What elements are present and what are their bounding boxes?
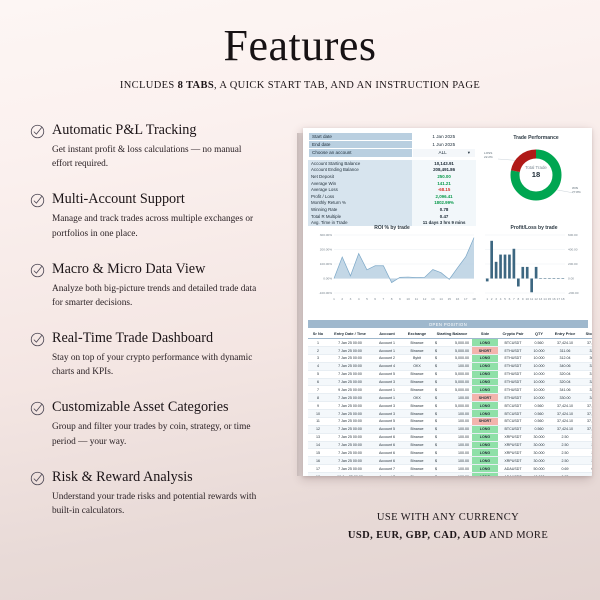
side-badge: LONG [472, 425, 498, 433]
metric-row: Monthly Return %1802.99% [308, 200, 476, 207]
feature-title: Multi-Account Support [52, 191, 185, 207]
svg-text:18: 18 [561, 297, 565, 301]
metric-row: Average Loss-68.15 [308, 186, 476, 193]
table-cell: 7 Jan 25 00:00 [328, 394, 372, 402]
table-cell: Account 3 [372, 410, 402, 418]
table-cell: Binance [402, 410, 432, 418]
table-cell: 338.00 [580, 386, 592, 394]
subtitle-post: , A QUICK START TAB, AND AN INSTRUCTION … [214, 80, 480, 91]
svg-text:14: 14 [543, 297, 547, 301]
table-cell: 17 [308, 465, 328, 473]
svg-text:200.00: 200.00 [568, 262, 578, 266]
table-cell: Account 5 [372, 425, 402, 433]
table-cell: Binance [402, 339, 432, 347]
table-cell: 0.65 [580, 473, 592, 476]
table-cell: 7 Jan 25 00:00 [328, 410, 372, 418]
svg-text:12: 12 [423, 297, 427, 301]
svg-text:9: 9 [399, 297, 401, 301]
table-cell: Binance [402, 425, 432, 433]
feature-description: Get instant profit & loss calculations —… [52, 143, 257, 172]
table-cell: 7 Jan 25 00:00 [328, 433, 372, 441]
table-cell: 18 [308, 473, 328, 476]
donut-win-label: WIN77.8% [572, 187, 581, 195]
table-cell: Account 1 [372, 386, 402, 394]
side-badge: LONG [472, 449, 498, 457]
svg-text:1: 1 [486, 297, 488, 301]
svg-text:6: 6 [374, 297, 376, 301]
check-circle-icon [30, 263, 45, 278]
table-cell: Account 6 [372, 441, 402, 449]
table-row[interactable]: 47 Jan 25 00:00Account 4OKX$100.00LONGET… [308, 362, 592, 370]
table-column-header: Sr No [308, 329, 328, 339]
table-cell: 2 [308, 347, 328, 355]
table-cell: 330.00 [550, 394, 580, 402]
table-cell: OKX [402, 394, 432, 402]
table-cell: 8 [308, 394, 328, 402]
check-circle-icon [30, 401, 45, 416]
filter-label: Choose an account [309, 149, 413, 157]
feature-item: Automatic P&L Tracking Get instant profi… [30, 122, 280, 172]
filter-row: End date 1 Jun 2025 [309, 141, 476, 149]
metric-row: Average Win141.21 [308, 180, 476, 187]
table-cell: 2.15 [580, 433, 592, 441]
svg-text:300.00%: 300.00% [320, 233, 332, 237]
metric-row: Account Starting Balance10,143.91 [308, 160, 476, 167]
table-cell: 7 Jan 25 00:00 [328, 378, 372, 386]
table-column-header: Exchange [402, 329, 432, 339]
feature-description: Analyze both big-picture trends and deta… [52, 282, 257, 311]
table-cell: 312.04 [550, 354, 580, 362]
table-cell: Binance [402, 378, 432, 386]
table-column-header: Side [472, 329, 498, 339]
currency-codes: USD, EUR, GBP, CAD, AUD [348, 530, 487, 541]
table-cell: Account 3 [372, 402, 402, 410]
side-badge: LONG [472, 354, 498, 362]
table-column-header: Entry Price [550, 329, 580, 339]
side-badge: LONG [472, 457, 498, 465]
table-cell: 0.60 [580, 465, 592, 473]
table-cell: 13 [308, 433, 328, 441]
table-cell: 2.15 [580, 441, 592, 449]
side-badge: SHORT [472, 417, 498, 425]
table-cell: 5 [308, 370, 328, 378]
table-cell: 311.06 [550, 347, 580, 355]
table-cell: 37,424.10 [550, 402, 580, 410]
table-cell: 0.560 [528, 402, 550, 410]
table-row[interactable]: 147 Jan 25 00:00Account 6Binance$100.00L… [308, 441, 592, 449]
side-badge: SHORT [472, 347, 498, 355]
table-cell: Binance [402, 457, 432, 465]
table-cell: XRPUSDT [498, 449, 528, 457]
filter-label: End date [309, 141, 413, 149]
table-cell: 330.00 [580, 362, 592, 370]
svg-text:10: 10 [525, 297, 529, 301]
table-cell: Binance [402, 449, 432, 457]
table-column-header: Crypto Pair [498, 329, 528, 339]
feature-title: Customizable Asset Categories [52, 399, 229, 415]
table-cell: 9 Jan 25 00:00 [328, 386, 372, 394]
table-column-header: Account [372, 329, 402, 339]
table-cell: $100.00 [432, 465, 472, 473]
svg-text:14: 14 [439, 297, 443, 301]
table-column-header: Starting Balance [432, 329, 472, 339]
table-cell: 3 [308, 354, 328, 362]
table-cell: 2.50 [550, 457, 580, 465]
table-cell: 10.000 [528, 370, 550, 378]
table-cell: 2.15 [580, 457, 592, 465]
currency-list: USD, EUR, GBP, CAD, AUD AND MORE [303, 530, 593, 541]
metric-row: Total R Multiple0.47 [308, 213, 476, 220]
table-cell: 16 Jun 25 09:00 [328, 473, 372, 476]
currency-heading: USE WITH ANY CURRENCY [303, 512, 593, 523]
table-row[interactable]: 167 Jan 25 00:00Account 6Binance$100.00L… [308, 457, 592, 465]
table-cell: 4 [308, 362, 328, 370]
side-badge: LONG [472, 410, 498, 418]
table-cell: $5,000.00 [432, 378, 472, 386]
feature-item: Multi-Account Support Manage and track t… [30, 191, 280, 241]
side-badge: LONG [472, 386, 498, 394]
filter-row: Choose an account ALL▾ [309, 149, 476, 157]
table-cell: $5,000.00 [432, 386, 472, 394]
table-cell: 0.560 [528, 410, 550, 418]
chevron-down-icon: ▾ [468, 150, 470, 156]
table-cell: $100.00 [432, 425, 472, 433]
check-circle-icon [30, 471, 45, 486]
svg-text:15: 15 [448, 297, 452, 301]
table-cell: ETHUSDT [498, 362, 528, 370]
metric-row: Profit / Loss2,096.41 [308, 193, 476, 200]
filter-row: Start date 1 Jan 2025 [309, 133, 476, 141]
svg-text:0.00: 0.00 [568, 277, 574, 281]
trade-performance-widget: Trade Performance LOS [484, 132, 588, 216]
table-cell: OKX [402, 362, 432, 370]
account-select[interactable]: ALL▾ [412, 149, 475, 157]
table-cell: 340.06 [550, 362, 580, 370]
account-select-value: ALL [418, 150, 468, 156]
table-cell: 50.000 [528, 465, 550, 473]
table-cell: 0.560 [528, 417, 550, 425]
feature-item: Customizable Asset Categories Group and … [30, 399, 280, 449]
metric-value: 250.00 [412, 173, 476, 180]
table-row[interactable]: 127 Jan 25 00:00Account 5Binance$100.00L… [308, 425, 592, 433]
table-cell: Account 5 [372, 370, 402, 378]
svg-text:17: 17 [464, 297, 468, 301]
svg-text:4: 4 [500, 297, 502, 301]
table-cell: ETHUSDT [498, 370, 528, 378]
svg-text:5: 5 [504, 297, 506, 301]
table-cell: $5,000.00 [432, 354, 472, 362]
svg-text:15: 15 [548, 297, 552, 301]
table-cell: ETHUSDT [498, 394, 528, 402]
table-cell: 37,210.00 [580, 339, 592, 347]
table-cell: 7 [308, 386, 328, 394]
table-cell: 7 Jan 25 00:00 [328, 354, 372, 362]
table-cell: 10.000 [528, 362, 550, 370]
table-cell: 7 Jan 25 00:00 [328, 425, 372, 433]
table-column-header: QTY [528, 329, 550, 339]
side-badge: LONG [472, 441, 498, 449]
table-column-header: Stop Loss [580, 329, 592, 339]
table-cell: 340.00 [580, 394, 592, 402]
svg-text:6: 6 [509, 297, 511, 301]
table-cell: 338.53 [580, 347, 592, 355]
side-badge: LONG [472, 473, 498, 476]
table-cell: BTCUSDT [498, 339, 528, 347]
svg-text:18: 18 [472, 297, 476, 301]
table-cell: 30.000 [528, 449, 550, 457]
metric-label: Account Starting Balance [308, 160, 412, 167]
feature-title: Automatic P&L Tracking [52, 122, 197, 138]
table-cell: $5,000.00 [432, 347, 472, 355]
svg-text:3: 3 [495, 297, 497, 301]
table-cell: 10.000 [528, 386, 550, 394]
check-circle-icon [30, 332, 45, 347]
svg-text:200.00%: 200.00% [320, 248, 332, 252]
svg-text:16: 16 [552, 297, 556, 301]
side-badge: LONG [472, 433, 498, 441]
table-cell: BTCUSDT [498, 402, 528, 410]
table-cell: ADAUSDT [498, 473, 528, 476]
table-row[interactable]: 27 Jan 25 00:00Account 1Binance$5,000.00… [308, 347, 592, 355]
metric-value: 0.78 [412, 206, 476, 213]
side-badge: LONG [472, 465, 498, 473]
table-cell: 9 [308, 402, 328, 410]
table-row[interactable]: 97 Jan 25 00:00Account 3Binance$5,000.00… [308, 402, 592, 410]
table-cell: 7 Jan 25 00:00 [328, 402, 372, 410]
table-row[interactable]: 57 Jan 25 00:00Account 5Binance$5,000.00… [308, 370, 592, 378]
table-cell: Binance [402, 370, 432, 378]
table-cell: 37,210.00 [580, 410, 592, 418]
currency-suffix: AND MORE [487, 530, 548, 541]
svg-text:1: 1 [333, 297, 335, 301]
table-cell: $100.00 [432, 362, 472, 370]
start-date-value[interactable]: 1 Jan 2025 [412, 133, 475, 141]
table-cell: Account 6 [372, 457, 402, 465]
table-cell: 7 Jan 25 00:00 [328, 457, 372, 465]
table-cell: 7 Jan 25 00:00 [328, 339, 372, 347]
table-cell: 2.50 [550, 449, 580, 457]
table-cell: $5,000.00 [432, 339, 472, 347]
table-cell: $100.00 [432, 473, 472, 476]
metric-label: Net Deposit [308, 173, 412, 180]
table-cell: Account 6 [372, 433, 402, 441]
table-cell: ETHUSDT [498, 378, 528, 386]
table-row[interactable]: 1816 Jun 25 09:00Account 7Binance$100.00… [308, 473, 592, 476]
svg-text:11: 11 [415, 297, 418, 301]
metric-value: 2,096.41 [412, 193, 476, 200]
table-cell: Account 4 [372, 362, 402, 370]
table-cell: 37,210.00 [580, 425, 592, 433]
table-row[interactable]: 79 Jan 25 00:00Account 1Binance$5,000.00… [308, 386, 592, 394]
table-cell: ETHUSDT [498, 354, 528, 362]
table-cell: Binance [402, 473, 432, 476]
table-cell: $100.00 [432, 410, 472, 418]
table-cell: 0.70 [550, 473, 580, 476]
filter-label: Start date [309, 133, 413, 141]
table-cell: XRPUSDT [498, 457, 528, 465]
table-cell: Account 1 [372, 347, 402, 355]
table-cell: 37,424.10 [550, 425, 580, 433]
svg-text:11: 11 [530, 297, 533, 301]
feature-description: Group and filter your trades by coin, st… [52, 420, 257, 449]
table-row[interactable]: 137 Jan 25 00:00Account 6Binance$100.00L… [308, 433, 592, 441]
table-cell: 15 [308, 449, 328, 457]
page-title: Features [0, 20, 600, 71]
table-row[interactable]: 17 Jan 25 00:00Account 1Binance$5,000.00… [308, 339, 592, 347]
table-cell: Account 7 [372, 473, 402, 476]
table-cell: 30.000 [528, 433, 550, 441]
table-cell: 0.560 [528, 339, 550, 347]
table-row[interactable]: 117 Jan 25 00:00Account 5Binance$100.00S… [308, 417, 592, 425]
table-cell: XRPUSDT [498, 441, 528, 449]
table-column-header: Entry Date / Time [328, 329, 372, 339]
svg-text:9: 9 [522, 297, 524, 301]
table-row[interactable]: 37 Jan 25 00:00Account 2Bybit$5,000.00LO… [308, 354, 592, 362]
svg-text:8: 8 [391, 297, 393, 301]
table-cell: 30.000 [528, 457, 550, 465]
table-cell: Account 1 [372, 394, 402, 402]
table-cell: 14 [308, 441, 328, 449]
table-cell: 37,424.10 [550, 339, 580, 347]
metric-label: Average Loss [308, 186, 412, 193]
metric-label: Account Ending Balance [308, 167, 412, 174]
table-cell: 7 Jan 25 00:00 [328, 449, 372, 457]
table-cell: BTCUSDT [498, 410, 528, 418]
metric-row: Winning Rate0.78 [308, 206, 476, 213]
table-row[interactable]: 157 Jan 25 00:00Account 6Binance$100.00L… [308, 449, 592, 457]
table-cell: Binance [402, 441, 432, 449]
table-cell: BTCUSDT [498, 425, 528, 433]
table-cell: 0.560 [528, 425, 550, 433]
poster-page: Features INCLUDES 8 TABS, A QUICK START … [0, 0, 600, 600]
feature-title: Risk & Reward Analysis [52, 469, 193, 485]
table-cell: $5,000.00 [432, 370, 472, 378]
metric-value: 0.47 [412, 213, 476, 220]
table-row[interactable]: 177 Jan 25 00:00Account 7Binance$100.00L… [308, 465, 592, 473]
table-cell: $100.00 [432, 457, 472, 465]
table-cell: 7 Jan 25 00:00 [328, 465, 372, 473]
page-subtitle: INCLUDES 8 TABS, A QUICK START TAB, AND … [0, 80, 600, 91]
table-cell: 341.06 [550, 386, 580, 394]
svg-text:10: 10 [406, 297, 410, 301]
table-cell: ETHUSDT [498, 347, 528, 355]
table-cell: Account 1 [372, 339, 402, 347]
feature-description: Stay on top of your crypto performance w… [52, 351, 257, 380]
table-cell: 320.00 [580, 378, 592, 386]
feature-title: Macro & Micro Data View [52, 261, 205, 277]
side-badge: LONG [472, 339, 498, 347]
table-cell: Binance [402, 402, 432, 410]
svg-text:16: 16 [456, 297, 460, 301]
table-cell: Account 6 [372, 449, 402, 457]
metric-value: 10,143.91 [412, 160, 476, 167]
table-cell: 320.04 [550, 370, 580, 378]
table-cell: $100.00 [432, 394, 472, 402]
table-cell: 12 [308, 425, 328, 433]
table-cell: ETHUSDT [498, 386, 528, 394]
svg-text:600.00: 600.00 [568, 233, 578, 237]
svg-text:5: 5 [366, 297, 368, 301]
feature-description: Understand your trade risks and potentia… [52, 490, 257, 519]
metric-label: Total R Multiple [308, 213, 412, 220]
metric-label: Winning Rate [308, 206, 412, 213]
table-cell: 7 Jan 25 00:00 [328, 441, 372, 449]
subtitle-pre: INCLUDES [120, 80, 178, 91]
feature-list: Automatic P&L Tracking Get instant profi… [30, 122, 280, 538]
side-badge: LONG [472, 378, 498, 386]
table-cell: 10.000 [528, 378, 550, 386]
svg-text:100.00%: 100.00% [320, 262, 332, 266]
table-cell: $100.00 [432, 449, 472, 457]
metrics-panel: Account Starting Balance10,143.91 Accoun… [308, 160, 476, 226]
svg-text:3: 3 [350, 297, 352, 301]
roi-chart: ROI % by trade 300.00%200.00%100.00%0.00… [308, 225, 476, 313]
table-cell: Binance [402, 347, 432, 355]
table-row[interactable]: 87 Jan 25 00:00Account 1OKX$100.00SHORTE… [308, 394, 592, 402]
svg-text:7: 7 [383, 297, 385, 301]
check-circle-icon [30, 193, 45, 208]
table-cell: 37,210.00 [580, 402, 592, 410]
end-date-value[interactable]: 1 Jun 2025 [412, 141, 475, 149]
metric-value: 208,491.86 [412, 167, 476, 174]
side-badge: LONG [472, 370, 498, 378]
table-row[interactable]: 67 Jan 25 00:00Account 3Binance$5,000.00… [308, 378, 592, 386]
table-cell: 309.00 [580, 354, 592, 362]
donut-loss-label: LOSS22.2% [484, 152, 493, 160]
table-cell: $100.00 [432, 417, 472, 425]
table-cell: 6 [308, 378, 328, 386]
table-cell: 0.69 [550, 465, 580, 473]
table-cell: 310.00 [580, 370, 592, 378]
feature-item: Real-Time Trade Dashboard Stay on top of… [30, 330, 280, 380]
table-cell: Binance [402, 417, 432, 425]
svg-text:-200.00: -200.00 [568, 291, 579, 295]
table-cell: 37,424.10 [550, 417, 580, 425]
table-cell: Binance [402, 465, 432, 473]
table-cell: 10.000 [528, 347, 550, 355]
table-cell: 7 Jan 25 00:00 [328, 362, 372, 370]
table-row[interactable]: 107 Jan 25 00:00Account 3Binance$100.00L… [308, 410, 592, 418]
table-cell: 10.000 [528, 394, 550, 402]
feature-title: Real-Time Trade Dashboard [52, 330, 213, 346]
metric-label: Profit / Loss [308, 193, 412, 200]
table-cell: 16 [308, 457, 328, 465]
feature-item: Macro & Micro Data View Analyze both big… [30, 261, 280, 311]
table-cell: 2.50 [550, 441, 580, 449]
table-cell: XRPUSDT [498, 433, 528, 441]
side-badge: LONG [472, 402, 498, 410]
open-position-banner: OPEN POSITION [308, 320, 588, 328]
svg-text:12: 12 [534, 297, 538, 301]
table-cell: 2.15 [580, 449, 592, 457]
check-circle-icon [30, 124, 45, 139]
svg-text:7: 7 [513, 297, 515, 301]
svg-text:17: 17 [557, 297, 561, 301]
metric-row: Net Deposit250.00 [308, 173, 476, 180]
svg-text:400.00: 400.00 [568, 248, 578, 252]
spreadsheet-dashboard: Start date 1 Jan 2025 End date 1 Jun 202… [303, 128, 592, 476]
metric-value: 1802.99% [412, 200, 476, 207]
table-cell: 37,210.00 [580, 417, 592, 425]
side-badge: SHORT [472, 394, 498, 402]
table-cell: 1 [308, 339, 328, 347]
table-cell: 30.000 [528, 441, 550, 449]
svg-text:-100.00%: -100.00% [319, 291, 332, 295]
svg-text:2: 2 [491, 297, 493, 301]
svg-text:4: 4 [358, 297, 360, 301]
donut-chart: LOSS22.2% WIN77.8% Total Trade 18 [484, 141, 588, 209]
metric-label: Monthly Return % [308, 200, 412, 207]
